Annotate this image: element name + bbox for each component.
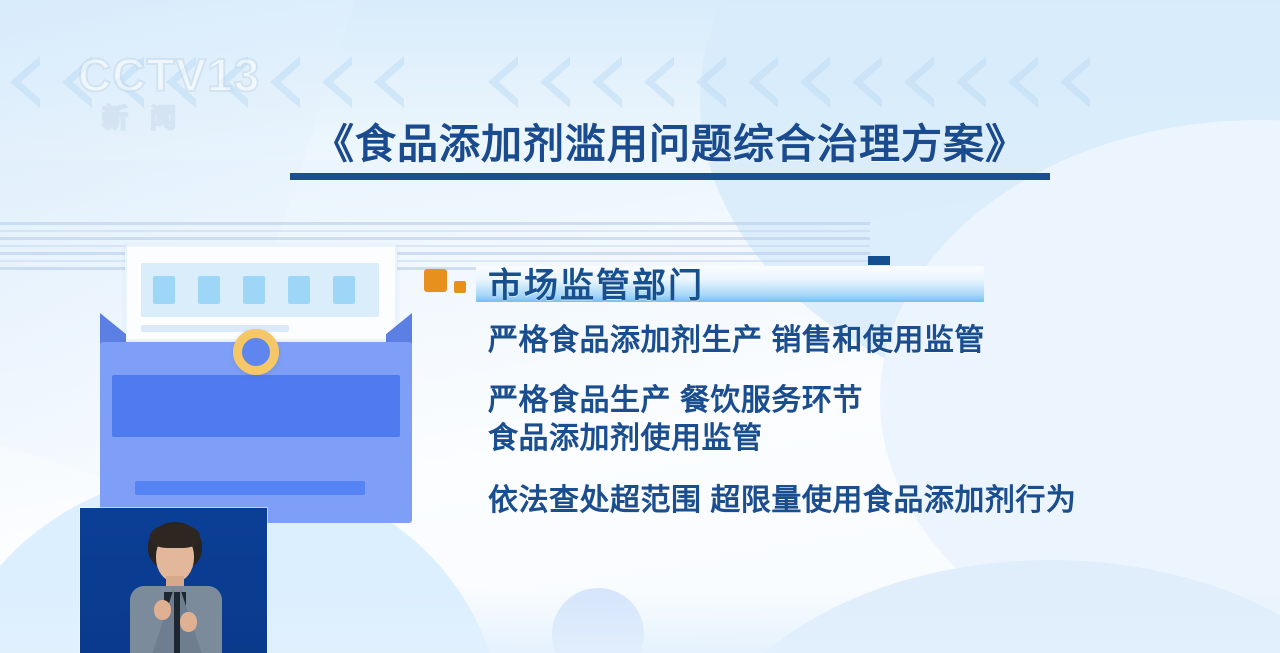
chevron-icon xyxy=(1060,56,1090,108)
envelope-clasp-ring-icon xyxy=(233,329,279,375)
list-item: 严格食品添加剂生产 销售和使用监管 xyxy=(488,322,985,360)
document-block xyxy=(288,276,310,304)
document-card-icon xyxy=(125,245,397,341)
list-item-line: 食品添加剂使用监管 xyxy=(488,420,863,458)
chevron-icon xyxy=(800,56,830,108)
list-item: 严格食品生产 餐饮服务环节 食品添加剂使用监管 xyxy=(488,382,863,459)
chevron-icon xyxy=(904,56,934,108)
document-block xyxy=(153,276,175,304)
cctv-logo-icon: CCTV13 新闻 xyxy=(78,48,268,134)
stripe-line xyxy=(0,230,870,232)
chevron-icon xyxy=(10,56,40,108)
document-panel xyxy=(141,263,379,317)
list-item-line: 依法查处超范围 超限量使用食品添加剂行为 xyxy=(488,482,1076,520)
sign-language-interpreter-video xyxy=(80,508,267,653)
document-block xyxy=(243,276,265,304)
chevron-icon xyxy=(270,56,300,108)
orange-square-icon xyxy=(424,269,447,292)
envelope-band-lower xyxy=(135,481,365,495)
interpreter-hand-right xyxy=(180,612,197,632)
list-item: 依法查处超范围 超限量使用食品添加剂行为 xyxy=(488,482,1076,520)
stripe-line xyxy=(0,237,870,240)
chevron-icon xyxy=(540,56,570,108)
title-text: 《食品添加剂滥用问题综合治理方案》 xyxy=(290,122,1050,167)
chevron-icon xyxy=(748,56,778,108)
chevron-icon xyxy=(956,56,986,108)
envelope-band-upper xyxy=(112,375,400,437)
chevron-icon xyxy=(696,56,726,108)
chevron-icon xyxy=(644,56,674,108)
orange-square-small-icon xyxy=(454,281,466,293)
channel-logo-text: CCTV13 xyxy=(78,48,260,102)
envelope-document-illustration xyxy=(100,245,412,523)
document-block xyxy=(333,276,355,304)
list-item-line: 严格食品生产 餐饮服务环节 xyxy=(488,382,863,420)
channel-logo-subtitle: 新闻 xyxy=(102,98,198,135)
chevron-icon xyxy=(374,56,404,108)
page-title: 《食品添加剂滥用问题综合治理方案》 xyxy=(290,122,1050,180)
chevron-icon xyxy=(322,56,352,108)
section-heading-text: 市场监管部门 xyxy=(488,258,704,307)
title-underline xyxy=(290,173,1050,180)
document-block xyxy=(198,276,220,304)
chevron-icon xyxy=(852,56,882,108)
chevron-icon xyxy=(488,56,518,108)
chevron-icon xyxy=(592,56,622,108)
chevron-icon xyxy=(1008,56,1038,108)
interpreter-hand-left xyxy=(154,600,171,620)
broadcast-screen: CCTV13 新闻 《食品添加剂滥用问题综合治理方案》 市场监管部门 严格食品添… xyxy=(0,0,1280,653)
interpreter-hair-front xyxy=(150,524,200,548)
list-item-line: 严格食品添加剂生产 销售和使用监管 xyxy=(488,322,985,360)
stripe-line xyxy=(0,222,870,225)
section-heading: 市场监管部门 xyxy=(424,258,984,304)
